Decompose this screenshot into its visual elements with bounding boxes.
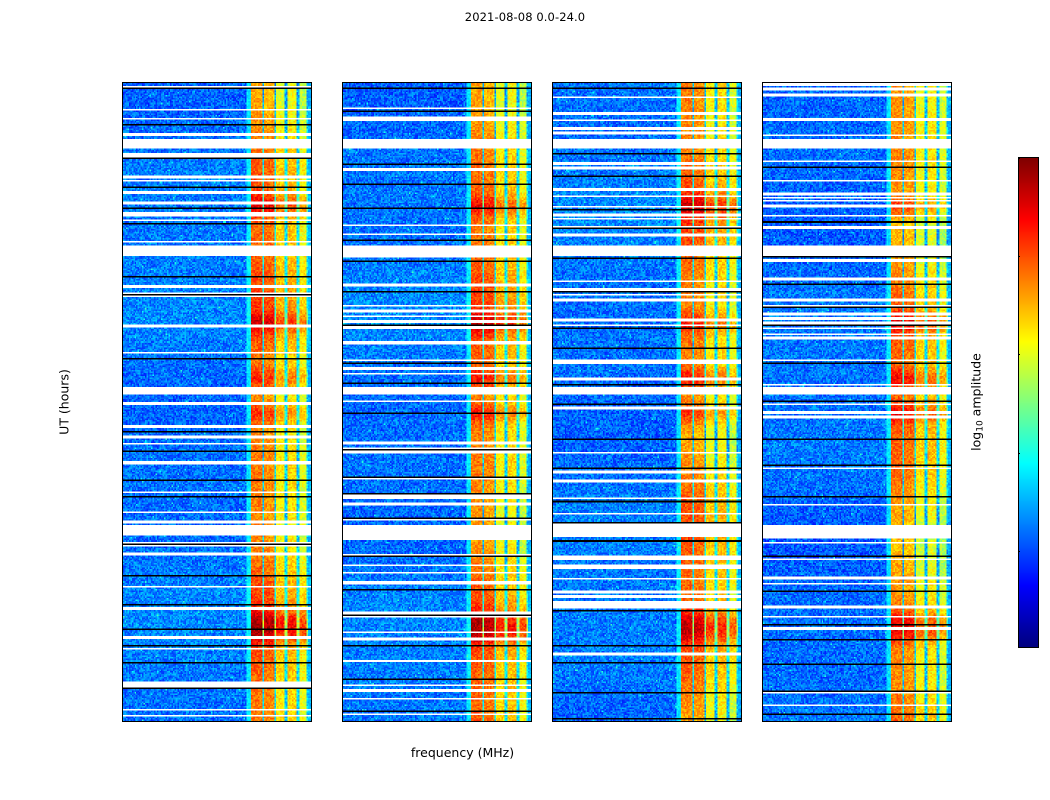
waterfall-image-yx [763,83,951,721]
x-tick-xy-350 [647,721,648,722]
x-tick-xy-335 [603,721,604,722]
x-tick-yy-350 [437,721,438,722]
y-tick-xx-10 [122,456,123,457]
y-tick-yx-20 [762,190,763,191]
waterfall-panel-xx[interactable]: XX, V8*V17=EA07*EA2132033535036538005101… [122,82,312,722]
x-tick-xx-335 [173,721,174,722]
y-tick-xy-10 [552,456,553,457]
y-tick-xy-15 [552,323,553,324]
x-tick-yy-320 [349,721,350,722]
x-tick-xx-365 [260,721,261,722]
x-tick-yx-335 [813,721,814,722]
colorbar-label-subscript: 10 [976,420,986,431]
x-tick-xy-320 [559,721,560,722]
colorbar-label-suffix: amplitude [969,353,984,420]
waterfall-image-xx [123,83,311,721]
colorbar-tick-1 [1018,158,1020,159]
y-tick-yy-20 [342,190,343,191]
colorbar-tick--1 [1018,354,1020,355]
colorbar-label: log10 amplitude [969,353,984,451]
y-tick-xy-20 [552,190,553,191]
colorbar-gradient [1019,158,1038,647]
colorbar-tick--2 [1018,453,1020,454]
y-tick-yy-5 [342,590,343,591]
y-axis-label: UT (hours) [57,369,72,435]
y-tick-yx-15 [762,323,763,324]
waterfall-panel-xy[interactable]: XY, V8*V17=EA07*EA2132033535036538005101… [552,82,742,722]
colorbar-tick-0 [1018,256,1020,257]
waterfall-image-yy [343,83,531,721]
y-tick-yx-5 [762,590,763,591]
x-tick-yx-380 [944,721,945,722]
x-tick-yy-380 [524,721,525,722]
x-tick-yx-350 [857,721,858,722]
x-tick-yx-365 [900,721,901,722]
x-tick-xx-350 [217,721,218,722]
x-axis-label: frequency (MHz) [0,745,925,760]
figure-suptitle: 2021-08-08 0.0-24.0 [0,10,1050,24]
y-tick-xx-20 [122,190,123,191]
x-tick-yy-365 [480,721,481,722]
y-tick-xx-5 [122,590,123,591]
x-tick-xy-380 [734,721,735,722]
x-tick-xx-380 [304,721,305,722]
x-tick-yy-335 [393,721,394,722]
waterfall-panel-yx[interactable]: YX, V8*V17=EA07*EA2132033535036538005101… [762,82,952,722]
colorbar-tick--3 [1018,551,1020,552]
x-tick-xy-365 [690,721,691,722]
x-tick-xx-320 [129,721,130,722]
y-tick-yy-10 [342,456,343,457]
waterfall-image-xy [553,83,741,721]
figure-canvas: 2021-08-08 0.0-24.0 XX, V8*V17=EA07*EA21… [0,0,1050,800]
y-tick-yx-10 [762,456,763,457]
y-tick-yy-15 [342,323,343,324]
waterfall-panel-yy[interactable]: YY, V8*V17=EA07*EA2132033535036538005101… [342,82,532,722]
colorbar-label-prefix: log [969,432,984,451]
x-tick-yx-320 [769,721,770,722]
y-tick-xx-15 [122,323,123,324]
colorbar[interactable]: −4−3−2−101 [1018,157,1039,648]
y-tick-xy-5 [552,590,553,591]
